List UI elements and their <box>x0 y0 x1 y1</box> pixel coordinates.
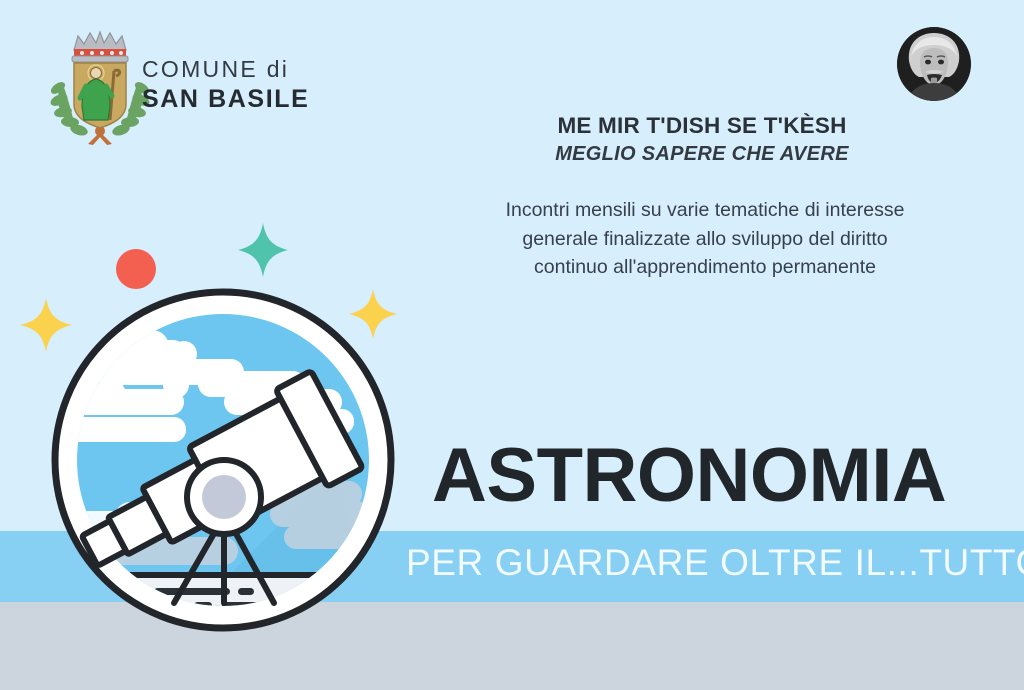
municipality-name: COMUNE di SAN BASILE <box>142 57 309 113</box>
sparkle-star-icon <box>236 221 290 279</box>
description-line-2: generale finalizzate allo sviluppo del d… <box>430 225 980 254</box>
poster-root: COMUNE di SAN BASILE <box>0 0 1024 690</box>
slogan-albanian: ME MIR T'DISH SE T'KÈSH <box>424 113 980 139</box>
comune-label: COMUNE di <box>142 57 309 83</box>
description-line-3: continuo all'apprendimento permanente <box>430 253 980 282</box>
page-title: ASTRONOMIA <box>432 438 946 514</box>
einstein-portrait-icon <box>897 27 971 101</box>
comune-town-name: SAN BASILE <box>142 85 309 113</box>
slogan-block: ME MIR T'DISH SE T'KÈSH MEGLIO SAPERE CH… <box>424 113 980 166</box>
description-line-1: Incontri mensili su varie tematiche di i… <box>430 196 980 225</box>
page-subtitle: PER GUARDARE OLTRE IL...TUTTO <box>406 544 1024 581</box>
telescope-in-circle <box>48 285 398 635</box>
coat-of-arms-icon <box>44 24 156 146</box>
description-block: Incontri mensili su varie tematiche di i… <box>430 196 980 282</box>
slogan-italian: MEGLIO SAPERE CHE AVERE <box>424 143 980 166</box>
